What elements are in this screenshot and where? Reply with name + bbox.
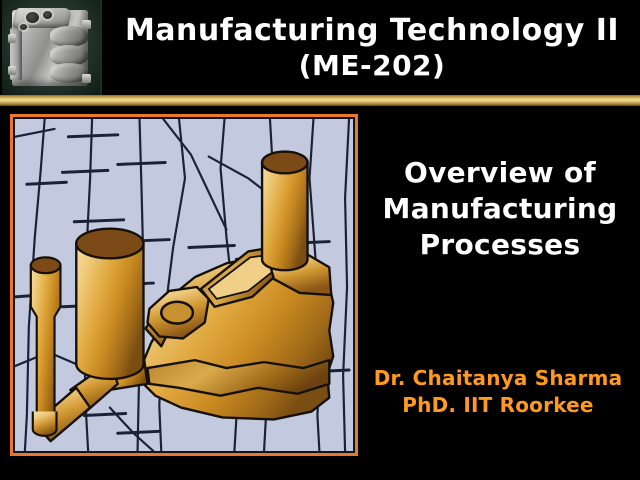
headline-line-2: Manufacturing [366,191,634,227]
casting-illustration [15,119,353,451]
logo-bore-hole-small-icon [43,11,52,19]
logo-cylinder-lobe-1 [50,26,88,47]
logo-bore-hole-large-icon [26,12,39,23]
presenter-name: Dr. Chaitanya Sharma [358,365,638,392]
slide-headline: Overview of Manufacturing Processes [366,155,634,263]
presenter-credits: Dr. Chaitanya Sharma PhD. IIT Roorkee [358,365,638,419]
course-title: Manufacturing Technology II [125,13,619,49]
presenter-affiliation: PhD. IIT Roorkee [358,392,638,419]
illustration-canvas [13,117,355,453]
logo-boss-4 [82,74,91,83]
slide-header: Manufacturing Technology II (ME-202) [0,0,640,95]
logo-boss-2 [8,66,16,75]
slide-root: Manufacturing Technology II (ME-202) [0,0,640,480]
headline-line-1: Overview of [366,155,634,191]
course-title-block: Manufacturing Technology II (ME-202) [104,0,640,95]
logo-boss-1 [8,34,16,43]
gold-divider-bar [0,95,640,106]
logo-bolt-hole-icon [20,24,27,30]
logo-boss-3 [82,20,91,29]
headline-line-3: Processes [366,227,634,263]
casting-photo-logo [2,0,102,95]
illustration-frame [10,114,358,456]
course-code: (ME-202) [299,49,446,83]
